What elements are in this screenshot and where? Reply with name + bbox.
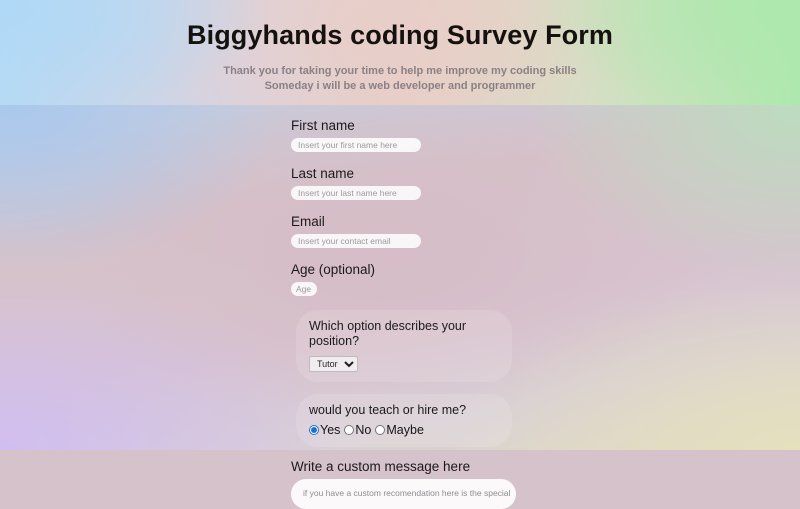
radio-yes[interactable] bbox=[309, 425, 319, 435]
position-panel: Which option describes your position? Tu… bbox=[296, 310, 512, 382]
radio-yes-label[interactable]: Yes bbox=[320, 423, 340, 437]
radio-maybe-label[interactable]: Maybe bbox=[386, 423, 424, 437]
page-title: Biggyhands coding Survey Form bbox=[0, 20, 800, 51]
email-input[interactable] bbox=[291, 234, 421, 248]
radio-maybe[interactable] bbox=[375, 425, 385, 435]
teach-or-hire-panel: would you teach or hire me? Yes No Maybe bbox=[296, 394, 512, 447]
first-name-input[interactable] bbox=[291, 138, 421, 152]
custom-message-label: Write a custom message here bbox=[291, 459, 521, 474]
email-label: Email bbox=[291, 214, 521, 230]
survey-page: Biggyhands coding Survey Form Thank you … bbox=[0, 0, 800, 450]
radio-no[interactable] bbox=[344, 425, 354, 435]
subtitle-line-1: Thank you for taking your time to help m… bbox=[0, 64, 800, 79]
field-first-name: First name bbox=[291, 118, 521, 152]
position-select[interactable]: Tutor bbox=[309, 356, 358, 372]
last-name-input[interactable] bbox=[291, 186, 421, 200]
position-label: Which option describes your position? bbox=[309, 319, 499, 349]
teach-or-hire-label: would you teach or hire me? bbox=[309, 403, 499, 418]
subtitle-line-2: Someday i will be a web developer and pr… bbox=[0, 79, 800, 94]
survey-form: First name Last name Email Age (optional… bbox=[291, 118, 521, 509]
field-last-name: Last name bbox=[291, 166, 521, 200]
field-email: Email bbox=[291, 214, 521, 248]
age-label: Age (optional) bbox=[291, 262, 521, 278]
field-age: Age (optional) bbox=[291, 262, 521, 296]
custom-message-textarea[interactable] bbox=[291, 479, 516, 509]
last-name-label: Last name bbox=[291, 166, 521, 182]
age-input[interactable] bbox=[291, 282, 317, 296]
page-subtitle: Thank you for taking your time to help m… bbox=[0, 64, 800, 94]
first-name-label: First name bbox=[291, 118, 521, 134]
radio-no-label[interactable]: No bbox=[355, 423, 371, 437]
teach-or-hire-radio-group: Yes No Maybe bbox=[309, 423, 499, 437]
field-custom-message: Write a custom message here bbox=[291, 459, 521, 509]
